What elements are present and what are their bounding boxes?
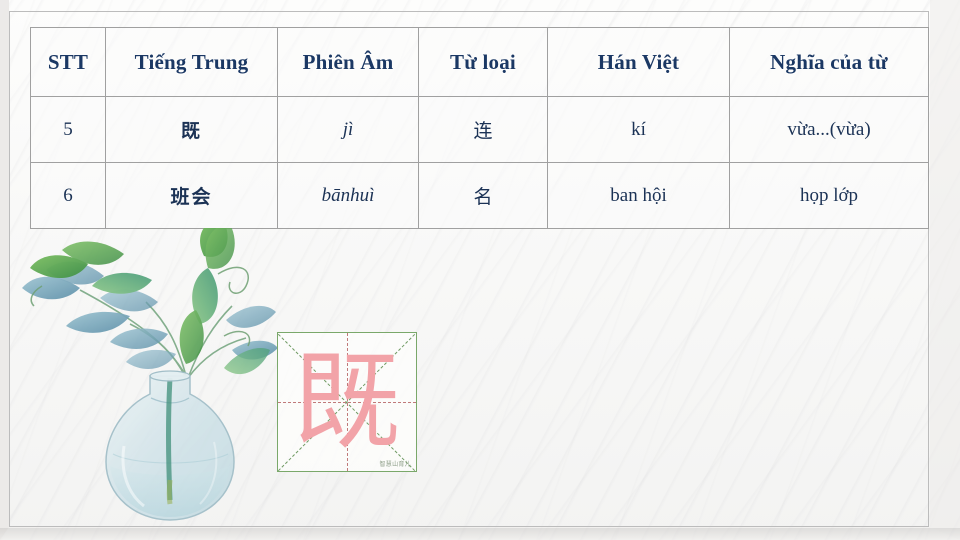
cell-word-type: 名 xyxy=(419,163,548,229)
table-header-row: STT Tiếng Trung Phiên Âm Từ loại Hán Việ… xyxy=(31,28,929,97)
cell-han-viet: ban hội xyxy=(548,163,730,229)
cell-meaning: họp lớp xyxy=(730,163,929,229)
vase-illustration xyxy=(18,228,288,528)
cell-han-viet: kí xyxy=(548,97,730,163)
cell-hanzi: 既 xyxy=(106,97,278,163)
column-header-nghia-cua-tu: Nghĩa của từ xyxy=(730,28,929,97)
vocabulary-table: STT Tiếng Trung Phiên Âm Từ loại Hán Việ… xyxy=(30,27,929,229)
cell-stt: 5 xyxy=(31,97,106,163)
practice-character: 既 xyxy=(278,333,416,471)
cell-pinyin: bānhuì xyxy=(278,163,419,229)
slide-bottom-shadow xyxy=(0,528,960,540)
cell-hanzi: 班会 xyxy=(106,163,278,229)
grid-watermark: 智慧山育儿 xyxy=(379,459,411,468)
cell-pinyin: jì xyxy=(278,97,419,163)
cell-meaning: vừa...(vừa) xyxy=(730,97,929,163)
column-header-phien-am: Phiên Âm xyxy=(278,28,419,97)
cell-word-type: 连 xyxy=(419,97,548,163)
slide: STT Tiếng Trung Phiên Âm Từ loại Hán Việ… xyxy=(0,0,960,540)
character-practice-grid: 既 智慧山育儿 xyxy=(277,332,417,472)
cell-stt: 6 xyxy=(31,163,106,229)
table-row: 6 班会 bānhuì 名 ban hội họp lớp xyxy=(31,163,929,229)
column-header-tu-loai: Từ loại xyxy=(419,28,548,97)
column-header-tieng-trung: Tiếng Trung xyxy=(106,28,278,97)
table-row: 5 既 jì 连 kí vừa...(vừa) xyxy=(31,97,929,163)
column-header-stt: STT xyxy=(31,28,106,97)
column-header-han-viet: Hán Việt xyxy=(548,28,730,97)
